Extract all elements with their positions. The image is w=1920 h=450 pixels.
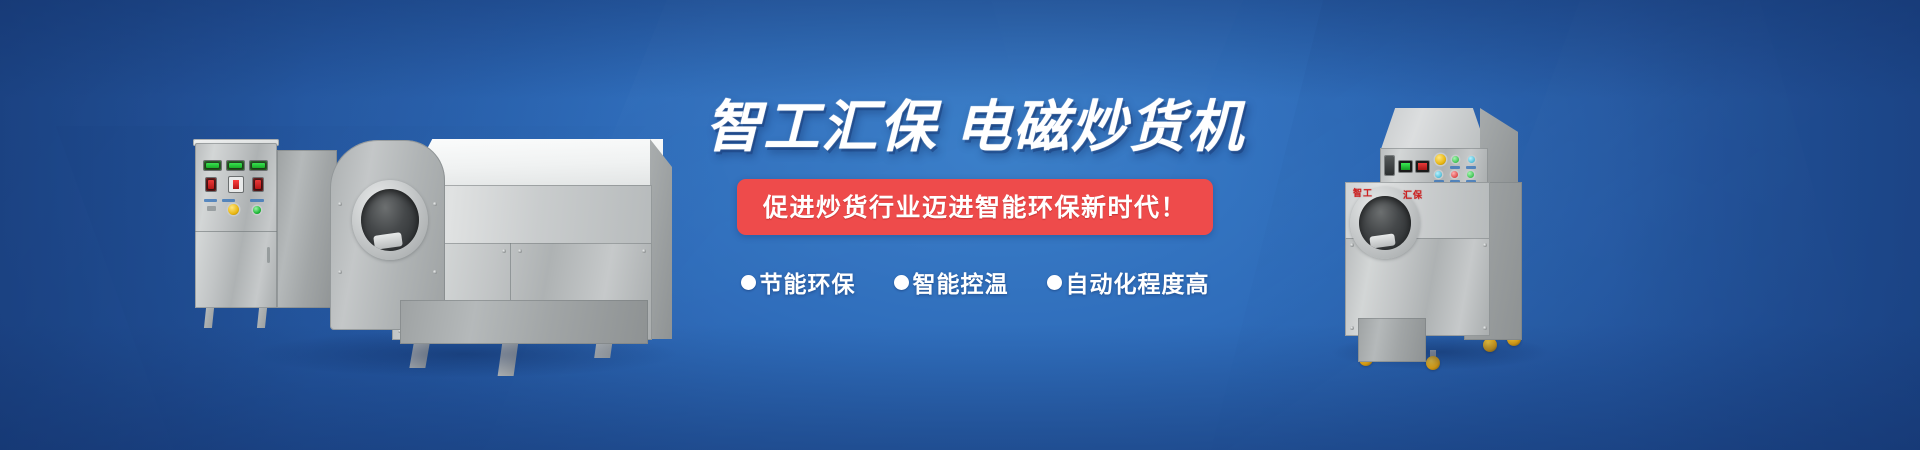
panel-knob: [207, 206, 216, 211]
panel-breaker: [1385, 156, 1394, 175]
panel-label-1: [204, 199, 217, 202]
right-emergency-stop-button: [1435, 154, 1446, 165]
bullet-dot-icon: [1047, 275, 1062, 290]
right-machine-drum-interior: [1359, 196, 1411, 250]
bullet-dot-icon: [894, 275, 909, 290]
badge-label: 促进炒货行业迈进智能环保新时代！: [763, 194, 1187, 222]
right-drum-brand-right: 汇保: [1403, 188, 1423, 201]
feature-label: 智能控温: [913, 265, 1009, 299]
feature-label: 节能环保: [760, 265, 856, 299]
banner-copy-block: 智工汇保 电磁炒货机 促进炒货行业迈进智能环保新时代！ 节能环保 智能控温 自动…: [690, 98, 1260, 299]
left-cabinet-extension: [277, 150, 337, 308]
cabinet-handle: [267, 247, 270, 263]
feature-item-automation: 自动化程度高: [1047, 265, 1210, 299]
promo-banner: 许昌智工 智工 汇保: [0, 0, 1920, 450]
left-machine-hatch: [352, 180, 428, 260]
left-machine-drum-interior: [361, 189, 419, 251]
cabinet-seam: [195, 231, 277, 232]
switch-power: [206, 178, 216, 191]
panel-display-1: [1399, 161, 1412, 172]
feature-item-energy-saving: 节能环保: [741, 265, 856, 299]
right-machine-skirt: [1358, 318, 1426, 362]
display-temp-2: [227, 161, 244, 170]
page-title: 智工汇保 电磁炒货机: [705, 98, 1245, 155]
status-badge: 促进炒货行业迈进智能环保新时代！: [737, 179, 1213, 235]
switch-heat: [253, 178, 263, 191]
feature-label: 自动化程度高: [1066, 265, 1210, 299]
left-machine-roof-side: [650, 139, 672, 339]
left-control-cabinet: [195, 143, 277, 308]
feature-item-smart-temp: 智能控温: [894, 265, 1009, 299]
panel-label-3: [250, 199, 264, 202]
switch-center: [229, 177, 243, 192]
display-temp-1: [204, 161, 221, 170]
emergency-stop-button: [228, 204, 239, 215]
right-machine-hood: [1380, 108, 1488, 152]
display-temp-3: [250, 161, 267, 170]
bullet-dot-icon: [741, 275, 756, 290]
right-control-panel: [1380, 148, 1488, 184]
panel-display-2: [1416, 161, 1429, 172]
panel-label-2: [222, 199, 235, 202]
right-drum-brand-left: 智工: [1353, 186, 1373, 199]
indicator-light-green: [253, 206, 261, 214]
left-machine-base: [400, 300, 648, 344]
feature-list: 节能环保 智能控温 自动化程度高: [741, 265, 1210, 299]
